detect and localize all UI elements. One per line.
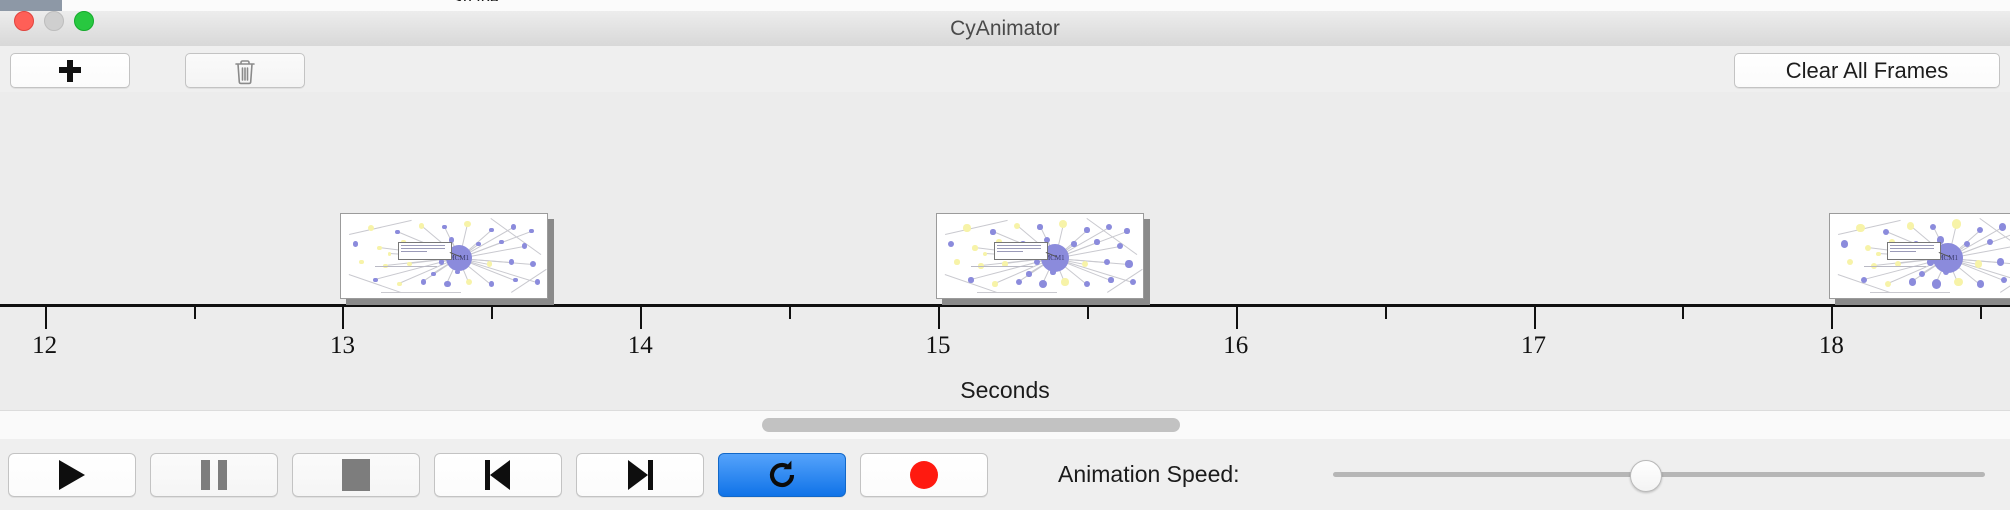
tick-minor-13.5 [491, 307, 493, 319]
delete-frame-button[interactable] [185, 53, 305, 88]
tick-label-14: 14 [628, 332, 653, 360]
background-window-label: Shape [452, 0, 498, 1]
tick-major-17 [1534, 307, 1536, 329]
tick-major-18 [1831, 307, 1833, 329]
loop-button[interactable] [718, 453, 846, 497]
animation-speed-thumb[interactable] [1630, 460, 1662, 492]
tick-major-13 [342, 307, 344, 329]
frame-preview: MCM1 [1829, 213, 2010, 299]
add-frame-button[interactable] [10, 53, 130, 88]
axis-title: Seconds [0, 377, 2010, 404]
timeline-frame[interactable]: MCM1 [936, 213, 1150, 305]
tick-minor-18.5 [1980, 307, 1982, 319]
window-title: CyAnimator [0, 11, 2010, 46]
record-icon [910, 461, 938, 489]
frame-preview: MCM1 [340, 213, 548, 299]
scrollbar-thumb[interactable] [762, 418, 1180, 432]
loop-icon [765, 458, 799, 492]
cyanimator-window: Shape CyAnimator Clear All Frames 121314… [0, 0, 2010, 510]
trash-icon [233, 57, 257, 85]
tick-major-16 [1236, 307, 1238, 329]
tick-major-15 [938, 307, 940, 329]
pause-icon [201, 460, 227, 490]
frame-preview: MCM1 [936, 213, 1144, 299]
skip-forward-icon [627, 460, 653, 490]
clear-all-frames-button[interactable]: Clear All Frames [1734, 53, 2000, 88]
network-thumbnail: MCM1 [1830, 214, 2010, 298]
plus-icon [58, 59, 82, 83]
tick-label-16: 16 [1223, 332, 1248, 360]
network-thumbnail: MCM1 [341, 214, 547, 298]
tick-label-18: 18 [1819, 332, 1844, 360]
skip-forward-button[interactable] [576, 453, 704, 497]
tick-major-14 [640, 307, 642, 329]
tick-minor-12.5 [194, 307, 196, 319]
tick-minor-14.5 [789, 307, 791, 319]
tick-label-13: 13 [330, 332, 355, 360]
timeline-frame[interactable]: MCM1 [340, 213, 554, 305]
background-window-strip: Shape [0, 0, 2010, 11]
tick-minor-16.5 [1385, 307, 1387, 319]
tick-label-12: 12 [32, 332, 57, 360]
play-button[interactable] [8, 453, 136, 497]
timeline-frame[interactable]: MCM1 [1829, 213, 2010, 305]
tick-major-12 [45, 307, 47, 329]
frame-toolbar: Clear All Frames [0, 46, 2010, 93]
tick-label-17: 17 [1521, 332, 1546, 360]
skip-back-icon [485, 460, 511, 490]
tick-minor-15.5 [1087, 307, 1089, 319]
stop-button[interactable] [292, 453, 420, 497]
record-button[interactable] [860, 453, 988, 497]
timeline-panel[interactable]: 12131415161718 MCM1MCM1MCM1 Seconds [0, 92, 2010, 410]
network-thumbnail: MCM1 [937, 214, 1143, 298]
play-icon [59, 460, 85, 490]
animation-speed-label: Animation Speed: [1058, 453, 1240, 495]
pause-button[interactable] [150, 453, 278, 497]
tick-minor-17.5 [1682, 307, 1684, 319]
stop-icon [342, 459, 370, 491]
tick-label-15: 15 [926, 332, 951, 360]
skip-back-button[interactable] [434, 453, 562, 497]
transport-bar: Animation Speed: [0, 439, 2010, 510]
timeline-scrollbar[interactable] [0, 410, 2010, 440]
